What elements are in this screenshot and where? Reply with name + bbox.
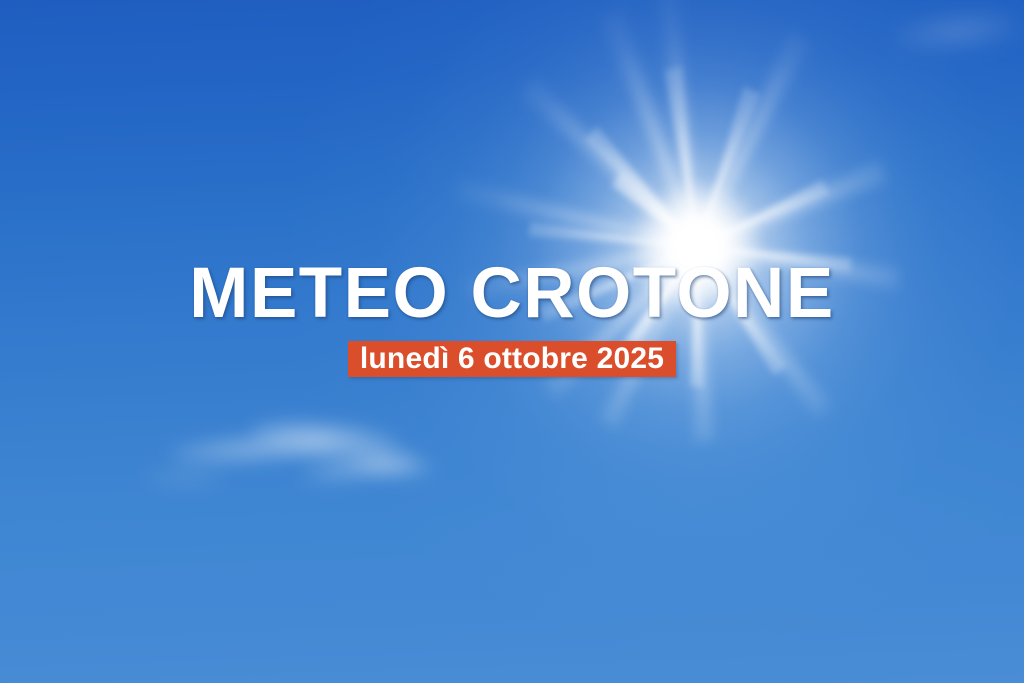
cloud-wisp [894, 10, 1021, 53]
cloud-wisp [299, 446, 421, 488]
date-badge: lunedì 6 ottobre 2025 [348, 341, 676, 377]
weather-banner: METEO CROTONE lunedì 6 ottobre 2025 [0, 0, 1024, 683]
date-badge-row: lunedì 6 ottobre 2025 [0, 341, 1024, 377]
page-title: METEO CROTONE [0, 258, 1024, 329]
headline-block: METEO CROTONE lunedì 6 ottobre 2025 [0, 258, 1024, 377]
cloud-wisp [140, 470, 230, 486]
cloud-wisp [167, 430, 338, 468]
cloud-wisp [249, 415, 402, 464]
cloud-wisp [355, 454, 434, 478]
